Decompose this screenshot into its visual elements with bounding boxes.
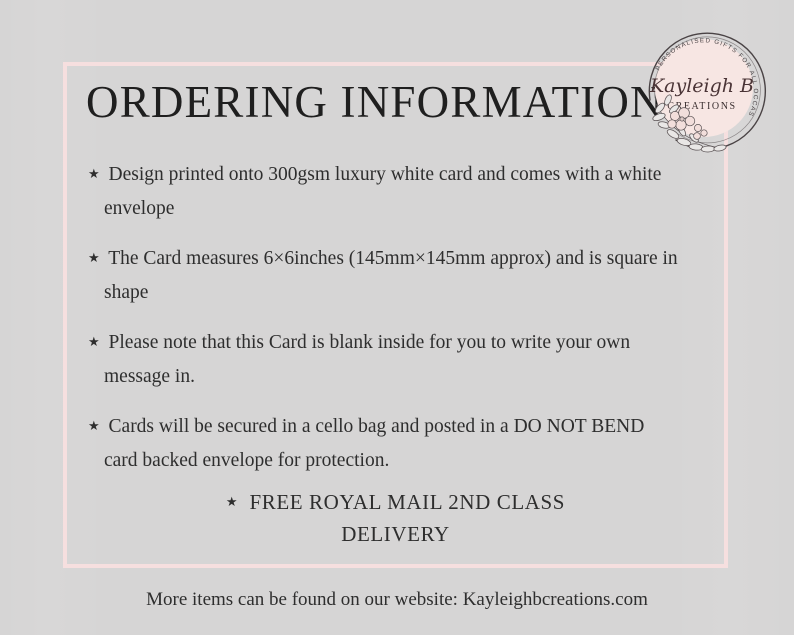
list-item: ★ Please note that this Card is blank in… — [88, 326, 678, 393]
list-item: ★ The Card measures 6×6inches (145mm×145… — [88, 242, 678, 309]
website-footer: More items can be found on our website: … — [0, 589, 794, 611]
delivery-line-primary-text: FREE ROYAL MAIL 2ND CLASS — [249, 490, 565, 514]
list-item-text: Please note that this Card is blank insi… — [104, 332, 630, 387]
delivery-line-secondary: DELIVERY — [63, 519, 728, 551]
info-bullet-list: ★ Design printed onto 300gsm luxury whit… — [88, 158, 678, 494]
list-item-text: Design printed onto 300gsm luxury white … — [104, 164, 661, 219]
list-item-text: Cards will be secured in a cello bag and… — [104, 416, 644, 471]
ordering-information-graphic: ORDERING INFORMATION ★ Design printed on… — [0, 0, 794, 635]
delivery-line-primary: ★ FREE ROYAL MAIL 2ND CLASS — [63, 487, 728, 519]
star-bullet-icon: ★ — [88, 250, 104, 265]
star-bullet-icon: ★ — [88, 418, 104, 433]
page-title: ORDERING INFORMATION — [86, 76, 664, 128]
star-bullet-icon: ★ — [88, 166, 104, 181]
list-item: ★ Design printed onto 300gsm luxury whit… — [88, 158, 678, 225]
star-bullet-icon: ★ — [88, 334, 104, 349]
logo-brand-script: Kayleigh B — [649, 75, 754, 97]
free-delivery-notice: ★ FREE ROYAL MAIL 2ND CLASS DELIVERY — [63, 487, 728, 550]
brand-logo: PERSONALISED GIFTS FOR ALL OCCASIONS Kay… — [628, 12, 778, 167]
list-item-text: The Card measures 6×6inches (145mm×145mm… — [104, 248, 678, 303]
list-item: ★ Cards will be secured in a cello bag a… — [88, 410, 678, 477]
star-bullet-icon: ★ — [226, 494, 244, 509]
